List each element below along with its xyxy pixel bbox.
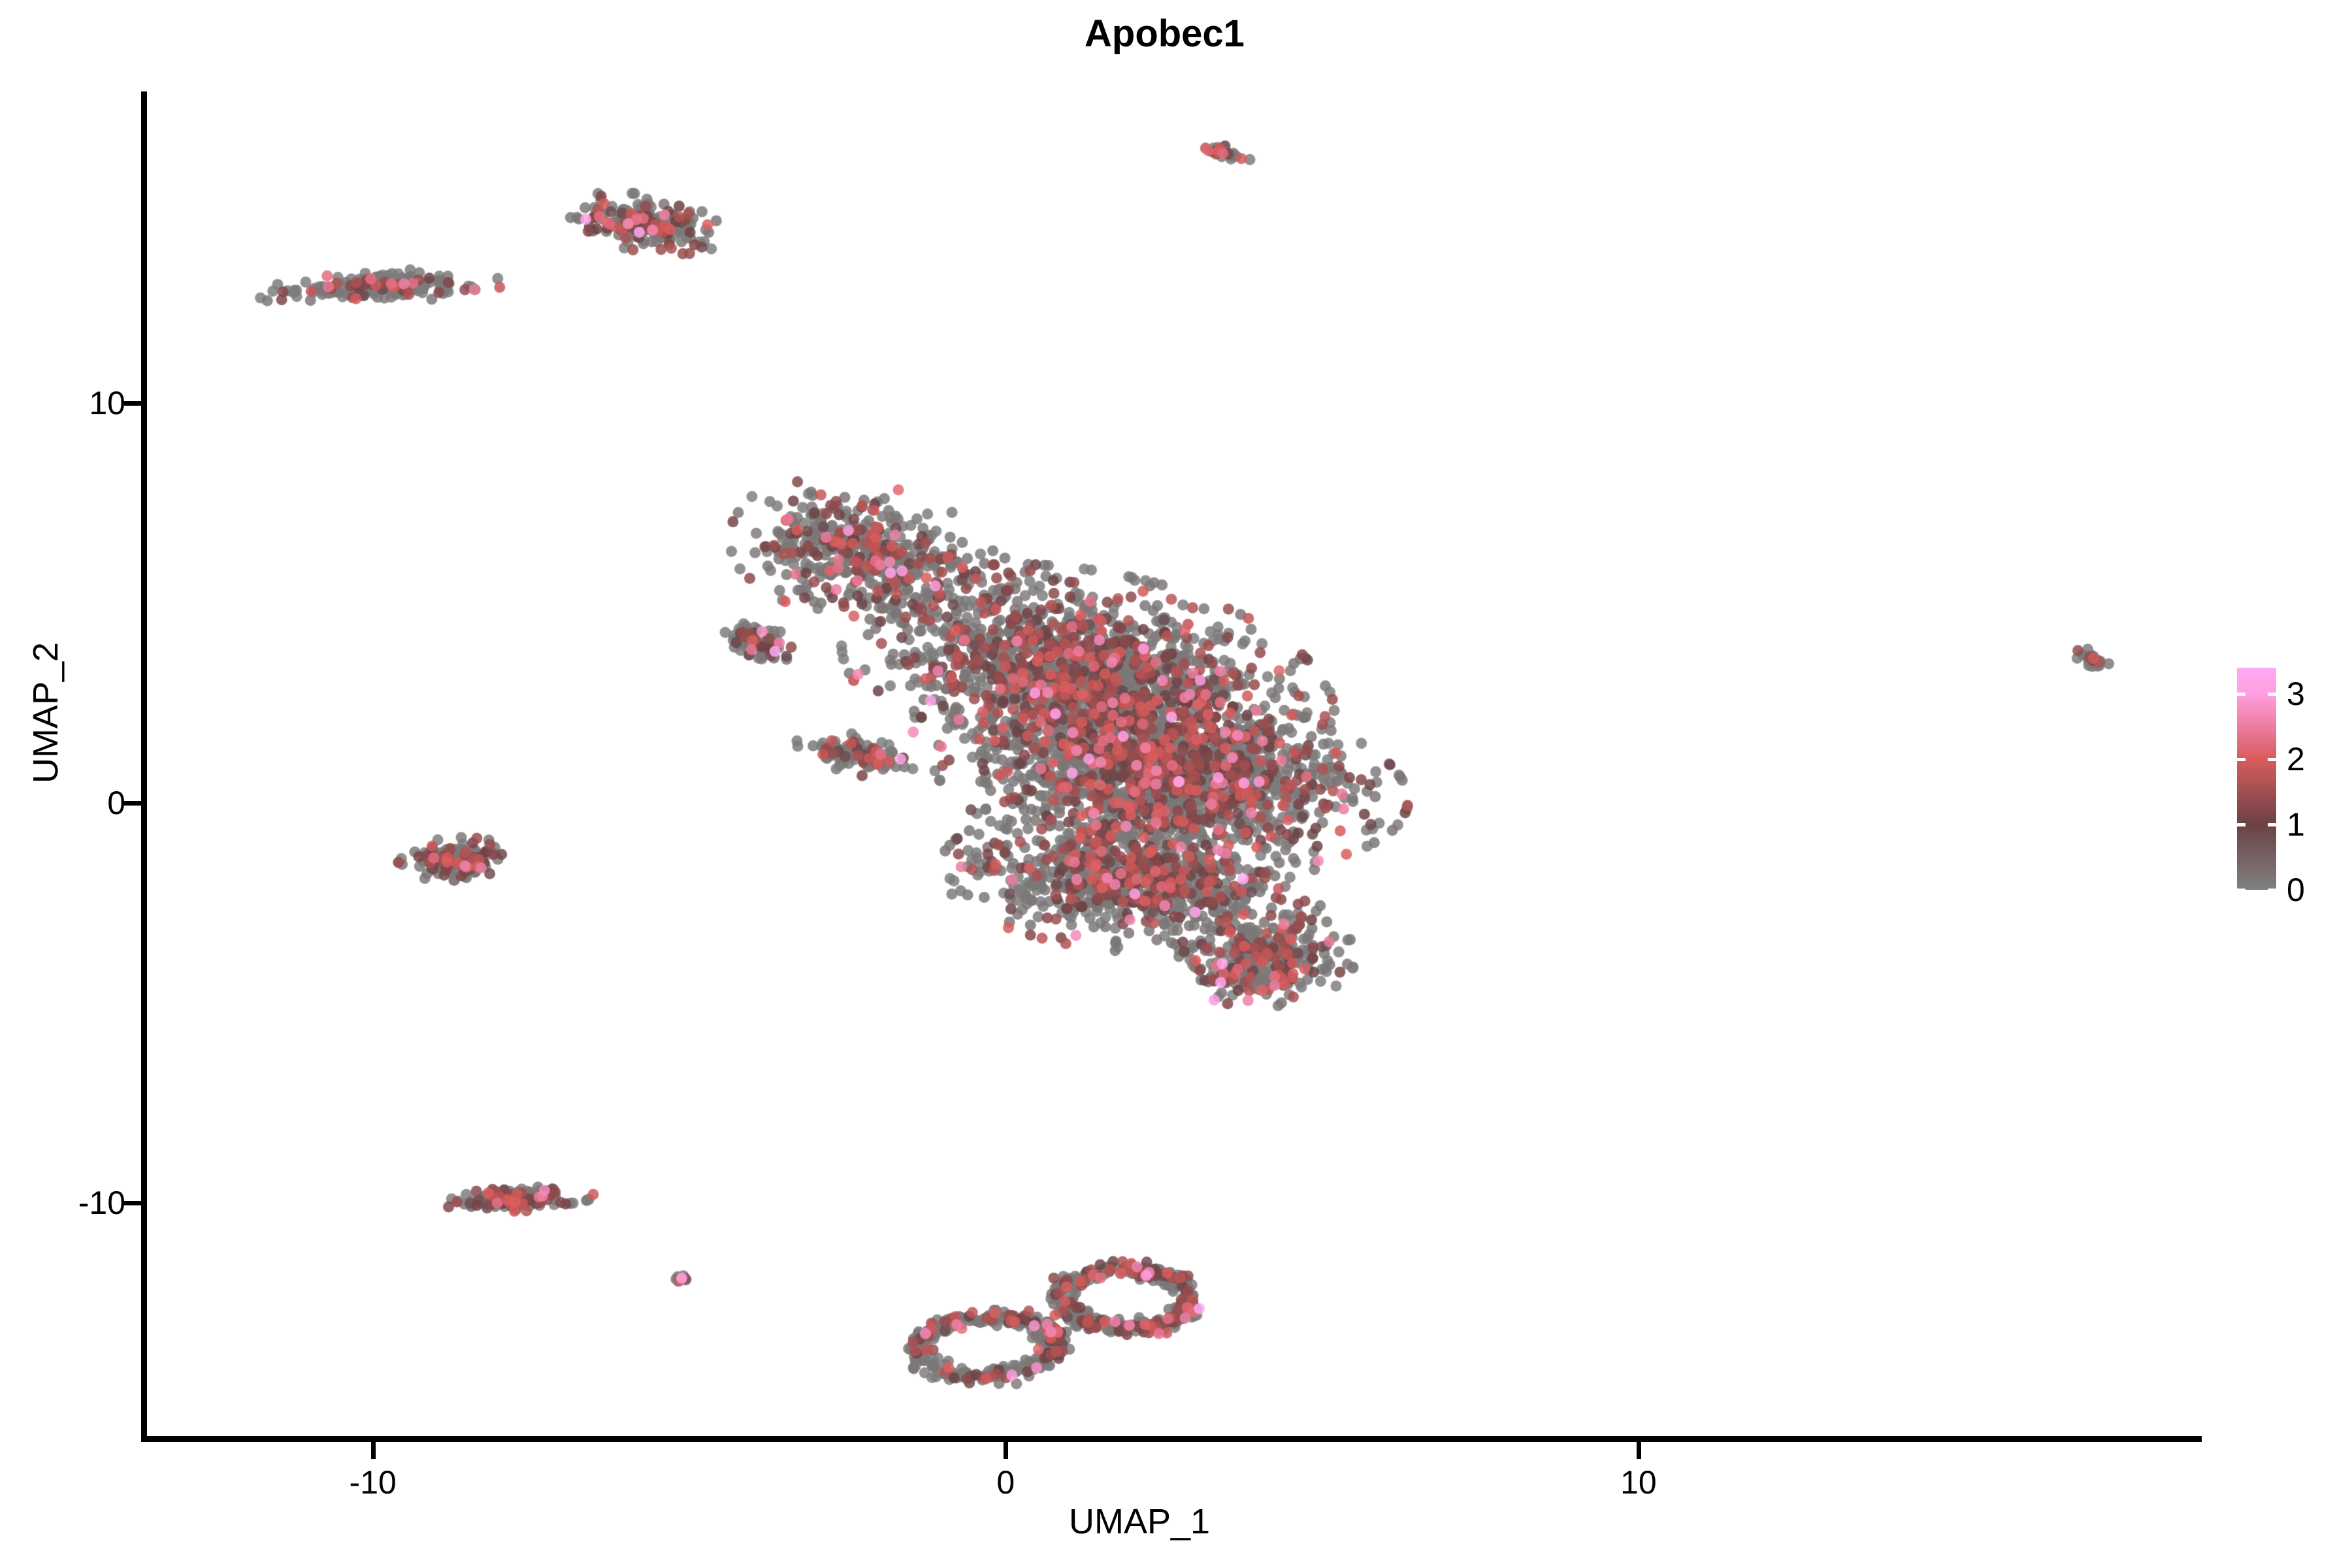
x-tick-label: 0 (907, 1463, 1103, 1501)
x-axis-line (141, 1436, 2202, 1442)
legend-tick-mark (2268, 823, 2276, 826)
y-tick-label: 10 (0, 384, 125, 422)
y-tick-label: -10 (0, 1184, 125, 1222)
y-axis-title: UMAP_2 (25, 517, 66, 909)
x-axis-title: UMAP_1 (1069, 1501, 1210, 1542)
legend-tick-mark (2237, 889, 2246, 892)
legend-colorbar (2237, 668, 2276, 890)
y-tick-mark (124, 1201, 141, 1205)
scatter-panel (145, 91, 2202, 1439)
y-axis-line (141, 91, 147, 1441)
legend-tick-label: 1 (2287, 806, 2305, 843)
legend-tick-mark (2237, 693, 2246, 696)
scatter-points-canvas (145, 91, 2202, 1439)
plot-title: Apobec1 (1085, 12, 1245, 56)
legend-tick-mark (2237, 758, 2246, 761)
y-tick-mark (124, 801, 141, 806)
legend-tick-label: 0 (2287, 871, 2305, 909)
legend-tick-mark (2268, 889, 2276, 892)
color-legend[interactable] (2237, 668, 2276, 890)
feature-plot-root: Apobec1 100-10 -10010 UMAP_1 UMAP_2 3210 (0, 0, 2352, 1568)
legend-tick-label: 2 (2287, 740, 2305, 778)
x-tick-mark (371, 1442, 376, 1459)
legend-tick-mark (2268, 693, 2276, 696)
legend-tick-label: 3 (2287, 675, 2305, 713)
legend-tick-mark (2237, 823, 2246, 826)
legend-tick-mark (2268, 758, 2276, 761)
x-tick-label: 10 (1541, 1463, 1737, 1501)
x-tick-label: -10 (275, 1463, 471, 1501)
x-tick-mark (1004, 1442, 1008, 1459)
y-tick-mark (124, 401, 141, 406)
x-tick-mark (1637, 1442, 1641, 1459)
